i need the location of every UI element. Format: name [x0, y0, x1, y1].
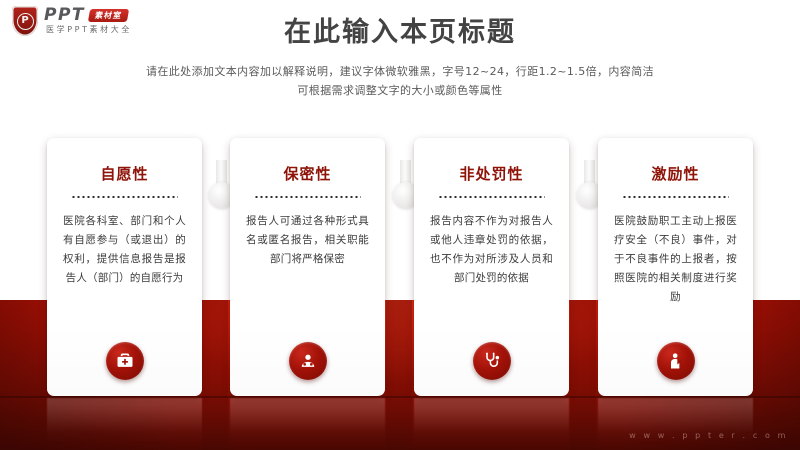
- card-title: 自愿性: [47, 164, 202, 184]
- stethoscope-icon: [473, 342, 511, 380]
- card-body: 医院各科室、部门和个人有自愿参与（或退出）的权利，提供信息报告是报告人（部门）的…: [63, 212, 186, 288]
- content-card-2[interactable]: 保密性 报告人可通过各种形式具名或匿名报告，相关职能部门将严格保密: [230, 138, 385, 396]
- content-card-4[interactable]: 激励性 医院鼓励职工主动上报医疗安全（不良）事件，对于不良事件的上报者，按照医院…: [598, 138, 753, 396]
- content-card-1[interactable]: 自愿性 医院各科室、部门和个人有自愿参与（或退出）的权利，提供信息报告是报告人（…: [47, 138, 202, 396]
- content-card-3[interactable]: 非处罚性 报告内容不作为对报告人或他人违章处罚的依据，也不作为对所涉及人员和部门…: [414, 138, 569, 396]
- card-title: 激励性: [598, 164, 753, 184]
- medical-kit-icon: [106, 342, 144, 380]
- card-title: 非处罚性: [414, 164, 569, 184]
- confidential-person-icon: [289, 342, 327, 380]
- card-body: 医院鼓励职工主动上报医疗安全（不良）事件，对于不良事件的上报者，按照医院的相关制…: [614, 212, 737, 307]
- card-divider: [71, 196, 178, 198]
- card-divider: [438, 196, 545, 198]
- card-divider: [622, 196, 729, 198]
- card-title: 保密性: [230, 164, 385, 184]
- card-body: 报告内容不作为对报告人或他人违章处罚的依据，也不作为对所涉及人员和部门处罚的依据: [430, 212, 553, 288]
- card-group: 自愿性 医院各科室、部门和个人有自愿参与（或退出）的权利，提供信息报告是报告人（…: [0, 0, 800, 450]
- card-divider: [254, 196, 361, 198]
- card-body: 报告人可通过各种形式具名或匿名报告，相关职能部门将严格保密: [246, 212, 369, 269]
- slide-canvas: P PPT 素材室 医学PPT素材大全 在此输入本页标题 请在此处添加文本内容加…: [0, 0, 800, 450]
- reward-person-icon: [657, 342, 695, 380]
- footer-watermark: w w w . p p t e r . c o m: [629, 430, 788, 442]
